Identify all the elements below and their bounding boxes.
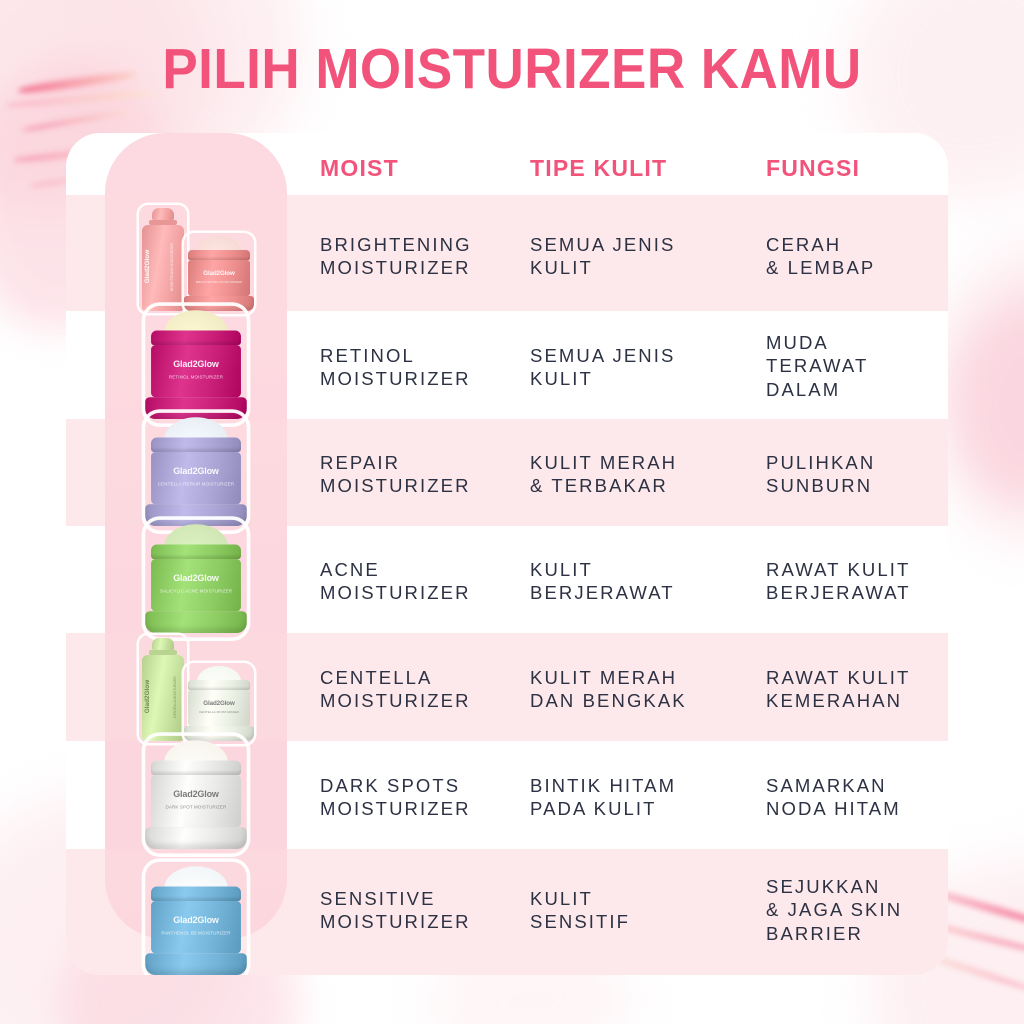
cell-fungsi: PULIHKAN SUNBURN [766,451,948,498]
brand-logo: Glad2Glow [173,791,219,800]
cell-fungsi: SEJUKKAN & JAGA SKIN BARRIER [766,875,948,945]
product-image-row-3: Glad2GlowCENTELLA REPAIR MOISTURIZER [105,419,287,526]
jar-body: Glad2GlowBRIGHTENING MOISTURIZER [188,260,250,296]
jar-body: Glad2GlowCENTELLA REPAIR MOISTURIZER [151,452,241,504]
product-name: BRIGHTENING MOISTURIZER [196,280,242,285]
cell-tipe-kulit: BINTIK HITAM PADA KULIT [530,774,762,821]
jar-body: Glad2GlowCENTELLA MOISTURIZER [188,690,250,726]
product-image-row-1: Glad2GlowBRIGHTENING MOISTURIZERGlad2Glo… [105,195,287,311]
product-image-row-2: Glad2GlowRETINOL MOISTURIZER [105,311,287,419]
jar-body: Glad2GlowRETINOL MOISTURIZER [151,345,241,397]
bottle-body: Glad2GlowBRIGHTENING MOISTURIZER [142,225,184,311]
brand-logo: Glad2Glow [144,250,151,283]
product-name: CENTELLA MOISTURIZER [173,676,177,718]
product-jar: Glad2GlowCENTELLA REPAIR MOISTURIZER [151,417,241,526]
jar-base [146,953,247,975]
cell-fungsi: CERAH & LEMBAP [766,233,948,280]
jar-rim [151,331,241,346]
jar-body: Glad2GlowDARK SPOT MOISTURIZER [151,775,241,827]
column-header-fungsi: FUNGSI [766,155,860,182]
product-jar: Glad2GlowCENTELLA MOISTURIZER [188,666,250,741]
table-header-row: MOIST TIPE KULIT FUNGSI [66,133,948,195]
brand-logo: Glad2Glow [203,701,234,707]
product-pump-bottle: Glad2GlowBRIGHTENING MOISTURIZER [142,208,184,311]
product-jar: Glad2GlowSALICYLIC ACNE MOISTURIZER [151,524,241,633]
product-image-row-4: Glad2GlowSALICYLIC ACNE MOISTURIZER [105,526,287,633]
product-image-row-6: Glad2GlowDARK SPOT MOISTURIZER [105,741,287,849]
cell-moist: DARK SPOTS MOISTURIZER [320,774,520,821]
product-jar: Glad2GlowDARK SPOT MOISTURIZER [151,740,241,849]
product-name: RETINOL MOISTURIZER [169,374,223,381]
product-jar: Glad2GlowBRIGHTENING MOISTURIZER [188,236,250,311]
brand-logo: Glad2Glow [173,575,219,584]
cell-moist: SENSITIVE MOISTURIZER [320,887,520,934]
jar-base [146,827,247,849]
cell-moist: CENTELLA MOISTURIZER [320,666,520,713]
cell-tipe-kulit: KULIT MERAH & TERBAKAR [530,451,762,498]
product-name: DARK SPOT MOISTURIZER [165,804,226,811]
cell-fungsi: SAMARKAN NODA HITAM [766,774,948,821]
brand-logo: Glad2Glow [144,680,151,713]
product-name: BRIGHTENING MOISTURIZER [170,243,174,291]
cell-tipe-kulit: SEMUA JENIS KULIT [530,344,762,391]
jar-rim [151,761,241,776]
jar-rim [188,680,250,690]
comparison-table-card: MOIST TIPE KULIT FUNGSI BRIGHTENING MOIS… [66,133,948,975]
cell-tipe-kulit: KULIT SENSITIF [530,887,762,934]
cell-fungsi: MUDA TERAWAT DALAM [766,331,948,401]
brand-logo: Glad2Glow [173,361,219,370]
product-name: PANTHENOL B5 MOISTURIZER [161,930,230,937]
cell-tipe-kulit: KULIT MERAH DAN BENGKAK [530,666,762,713]
jar-body: Glad2GlowPANTHENOL B5 MOISTURIZER [151,901,241,953]
pump-head [152,638,174,650]
cell-moist: ACNE MOISTURIZER [320,558,520,605]
jar-rim [151,545,241,560]
brand-logo: Glad2Glow [173,917,219,926]
product-jar: Glad2GlowRETINOL MOISTURIZER [151,310,241,419]
page-title: PILIH MOISTURIZER KAMU [36,36,988,102]
product-pump-bottle: Glad2GlowCENTELLA MOISTURIZER [142,638,184,741]
jar-body: Glad2GlowSALICYLIC ACNE MOISTURIZER [151,559,241,611]
product-name: CENTELLA MOISTURIZER [199,710,239,715]
product-jar: Glad2GlowPANTHENOL B5 MOISTURIZER [151,866,241,975]
jar-rim [188,250,250,260]
cell-fungsi: RAWAT KULIT BERJERAWAT [766,558,948,605]
bottle-body: Glad2GlowCENTELLA MOISTURIZER [142,655,184,741]
jar-base [146,611,247,633]
brand-logo: Glad2Glow [203,271,234,277]
cell-moist: BRIGHTENING MOISTURIZER [320,233,520,280]
pump-head [152,208,174,220]
jar-base [146,504,247,526]
product-name: CENTELLA REPAIR MOISTURIZER [158,481,235,488]
product-image-row-5: Glad2GlowCENTELLA MOISTURIZERGlad2GlowCE… [105,633,287,741]
cell-moist: REPAIR MOISTURIZER [320,451,520,498]
jar-base [184,726,253,741]
cell-tipe-kulit: SEMUA JENIS KULIT [530,233,762,280]
jar-rim [151,887,241,902]
column-header-tipe-kulit: TIPE KULIT [530,155,667,182]
brand-logo: Glad2Glow [173,468,219,477]
cell-fungsi: RAWAT KULIT KEMERAHAN [766,666,948,713]
product-image-row-7: Glad2GlowPANTHENOL B5 MOISTURIZER [105,849,287,975]
jar-rim [151,438,241,453]
cell-moist: RETINOL MOISTURIZER [320,344,520,391]
jar-base [184,296,253,311]
cell-tipe-kulit: KULIT BERJERAWAT [530,558,762,605]
product-name: SALICYLIC ACNE MOISTURIZER [160,588,232,595]
jar-base [146,397,247,419]
column-header-moist: MOIST [320,155,399,182]
